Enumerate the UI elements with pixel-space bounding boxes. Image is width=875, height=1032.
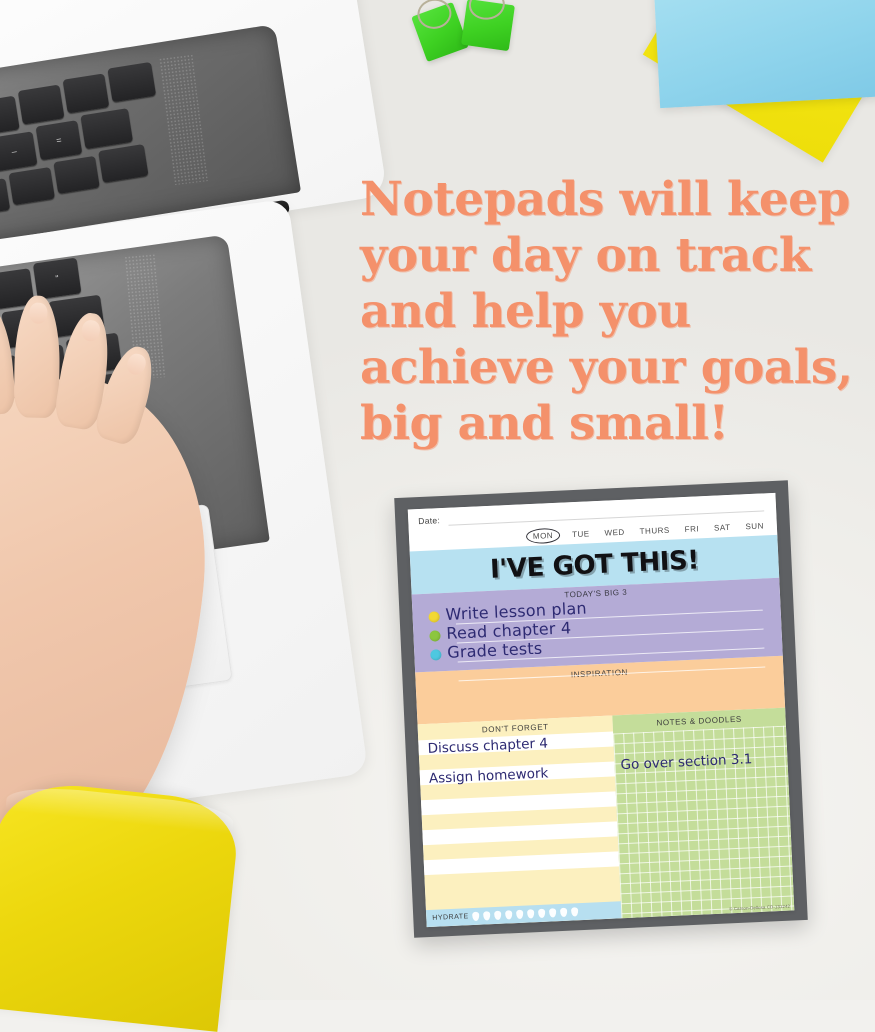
day-fri[interactable]: FRI (681, 522, 702, 536)
big3-item-text: Grade tests (447, 641, 543, 661)
copyright-text: © Carson-Dellosa CD-131242 (729, 904, 790, 912)
key-delete[interactable] (107, 62, 156, 102)
notes-handwriting-text: Go over section 3.1 (620, 751, 752, 773)
day-sun[interactable]: SUN (742, 519, 767, 533)
dont-forget-lines[interactable]: Discuss chapter 4 Assign homework (418, 731, 621, 927)
list-line[interactable] (422, 821, 618, 845)
day-mon[interactable]: MON (526, 528, 561, 545)
water-drop-icon[interactable] (560, 908, 567, 917)
list-line[interactable] (421, 791, 617, 815)
water-drop-icon[interactable] (571, 907, 578, 916)
key-return[interactable] (80, 108, 133, 149)
clip-wire (416, 0, 454, 31)
yellow-sleeve (0, 778, 241, 1032)
sticky-note-blue (654, 0, 875, 108)
headline-text: Notepads will keep your day on track and… (360, 172, 860, 452)
water-drop-icon[interactable] (549, 908, 556, 917)
key-p[interactable]: b (0, 96, 20, 136)
day-sat[interactable]: SAT (711, 521, 734, 535)
bullet-yellow-icon (428, 611, 439, 622)
water-drop-icon[interactable] (494, 911, 501, 920)
water-drop-icon[interactable] (505, 910, 512, 919)
day-thurs[interactable]: THURS (636, 524, 673, 539)
bullet-green-icon (429, 630, 440, 641)
key-minus[interactable]: – (0, 131, 38, 171)
notepad: Date: MON TUE WED THURS FRI SAT SUN I'VE… (394, 480, 808, 937)
day-tue[interactable]: TUE (569, 527, 593, 541)
big3-section: TODAY'S BIG 3 Write lesson plan Read cha… (412, 578, 783, 673)
key-blank-4[interactable] (9, 167, 55, 205)
date-label: Date: (418, 515, 440, 526)
water-drop-icon[interactable] (538, 909, 545, 918)
fingernail (80, 319, 101, 343)
key-equals[interactable]: = (36, 120, 83, 160)
notes-doodles-section: NOTES & DOODLES Go over section 3.1 © Ca… (612, 708, 794, 919)
key-blank-5[interactable] (53, 156, 99, 194)
clip-wire (467, 0, 506, 21)
notes-grid-area[interactable]: Go over section 3.1 © Carson-Dellosa CD-… (613, 726, 794, 919)
key-blank-3[interactable] (0, 178, 10, 216)
notepad-sheet: Date: MON TUE WED THURS FRI SAT SUN I'VE… (408, 493, 795, 927)
bullet-cyan-icon (430, 649, 441, 660)
water-drop-icon[interactable] (527, 909, 534, 918)
key-quote[interactable]: " (33, 258, 82, 300)
fingernail (29, 303, 47, 324)
key-blank-2[interactable] (63, 73, 110, 113)
dont-forget-section: DON'T FORGET Discuss chapter 4 Assign ho… (418, 715, 622, 927)
water-drop-icon[interactable] (484, 911, 491, 920)
bottom-area: DON'T FORGET Discuss chapter 4 Assign ho… (418, 708, 795, 927)
key-blank-1[interactable] (18, 85, 65, 125)
binder-clip-green-right (461, 0, 515, 51)
hydrate-label: HYDRATE (432, 913, 469, 922)
fingernail (124, 351, 147, 376)
speaker-grill-top (159, 54, 208, 185)
water-drop-icon[interactable] (516, 910, 523, 919)
water-drop-icon[interactable] (473, 912, 480, 921)
key-blank-6[interactable] (98, 144, 148, 183)
day-wed[interactable]: WED (601, 526, 628, 540)
list-line[interactable] (424, 851, 620, 875)
notepad-title: I'VE GOT THIS! (489, 545, 699, 584)
